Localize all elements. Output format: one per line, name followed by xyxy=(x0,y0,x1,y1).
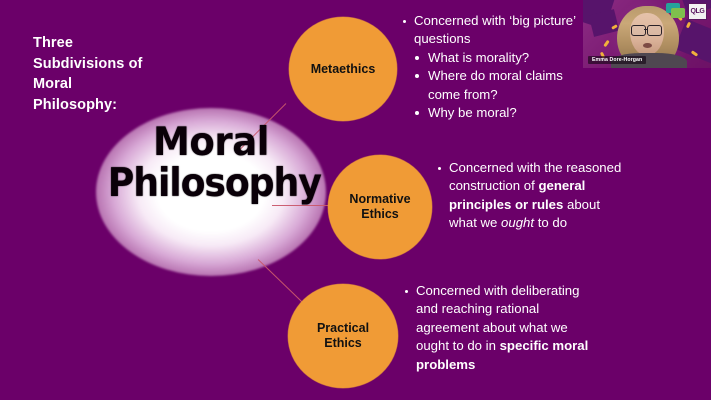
bullet-dot-icon xyxy=(415,111,419,115)
bullet-dot-icon xyxy=(405,290,408,293)
title-line-4: Philosophy: xyxy=(33,95,183,116)
list-item: Concerned with ‘big picture’ questions xyxy=(402,12,580,49)
center-wordart-line-1: Moral xyxy=(106,124,317,162)
speech-bubble-logo-icon xyxy=(666,3,685,18)
bullet-dot-icon xyxy=(415,56,419,60)
video-participant-tile[interactable]: Emma Dore-Horgan QLG xyxy=(583,0,711,68)
video-person-glasses-left xyxy=(631,25,646,36)
speech-bubble-logo-front xyxy=(671,8,685,18)
node-label-normative-line-2: Ethics xyxy=(361,207,399,221)
node-label-practical-line-2: Ethics xyxy=(324,336,362,350)
bullet-list-practical-ethics: Concerned with deliberating and reaching… xyxy=(404,282,594,374)
organisation-logo-mark: QLG xyxy=(691,8,705,15)
bullet-dot-icon xyxy=(415,74,419,78)
node-label-practical: Practical Ethics xyxy=(317,321,369,351)
list-item: Where do moral claims come from? xyxy=(402,67,580,104)
video-person-mouth xyxy=(643,43,652,48)
title-line-2: Subdivisions of xyxy=(33,54,183,75)
connector-line-practical xyxy=(258,259,308,307)
video-participant-name: Emma Dore-Horgan xyxy=(588,56,646,64)
presentation-slide: Three Subdivisions of Moral Philosophy: … xyxy=(0,0,711,400)
bullet-text-part-3: to do xyxy=(534,215,567,230)
node-label-normative: Normative Ethics xyxy=(349,192,410,222)
node-label-normative-line-1: Normative xyxy=(349,192,410,206)
bullet-text-part-1: Concerned with the reasoned construction… xyxy=(449,160,621,193)
bullet-list-metaethics: Concerned with ‘big picture’ questions W… xyxy=(402,12,580,122)
bullet-text-italic-1: ought xyxy=(501,215,534,230)
list-item: Concerned with the reasoned construction… xyxy=(437,159,622,233)
title-line-3: Moral xyxy=(33,74,183,95)
node-circle-normative-ethics[interactable]: Normative Ethics xyxy=(328,155,432,259)
bullet-dot-icon xyxy=(438,167,441,170)
video-logo-group: QLG xyxy=(666,3,707,20)
bullet-text: Where do moral claims come from? xyxy=(428,68,563,101)
bullet-dot-icon xyxy=(403,20,406,23)
center-wordart-moral-philosophy: Moral Philosophy xyxy=(100,124,322,203)
node-circle-metaethics[interactable]: Metaethics xyxy=(289,17,397,121)
node-label-metaethics: Metaethics xyxy=(311,62,376,77)
node-label-practical-line-1: Practical xyxy=(317,321,369,335)
node-circle-practical-ethics[interactable]: Practical Ethics xyxy=(288,284,398,388)
bullet-list-normative-ethics: Concerned with the reasoned construction… xyxy=(437,159,622,233)
video-person-glasses-right xyxy=(647,25,662,36)
center-wordart-line-2: Philosophy xyxy=(108,165,314,203)
video-person-glasses-bridge xyxy=(644,29,647,30)
page-title: Three Subdivisions of Moral Philosophy: xyxy=(33,33,183,115)
title-line-1: Three xyxy=(33,33,183,54)
bullet-text: Concerned with ‘big picture’ questions xyxy=(414,13,576,46)
organisation-logo-icon: QLG xyxy=(688,3,707,20)
list-item: Concerned with deliberating and reaching… xyxy=(404,282,594,374)
list-item: What is morality? xyxy=(402,49,580,67)
bullet-text: Why be moral? xyxy=(428,105,517,120)
list-item: Why be moral? xyxy=(402,104,580,122)
node-label-metaethics-line-1: Metaethics xyxy=(311,62,376,76)
bullet-text: What is morality? xyxy=(428,50,529,65)
